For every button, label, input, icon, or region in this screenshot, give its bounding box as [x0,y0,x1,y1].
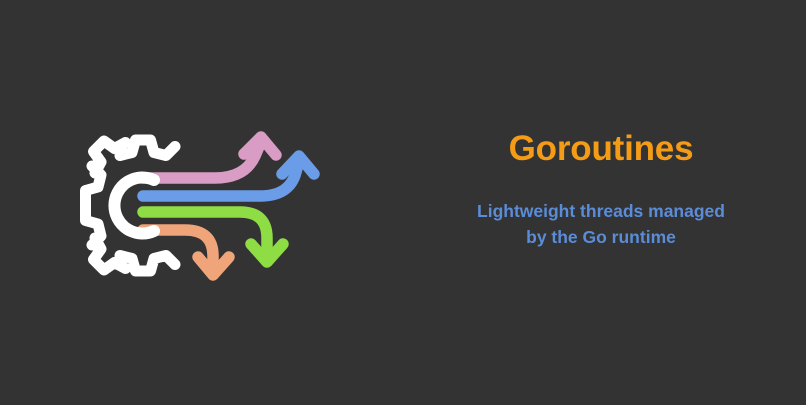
subtitle-line-2: by the Go runtime [406,224,796,250]
text-block: Goroutines Lightweight threads managed b… [406,128,796,250]
gear-icon [86,140,176,271]
page-title: Goroutines [406,128,796,170]
slide-canvas: Goroutines Lightweight threads managed b… [0,0,806,405]
page-subtitle: Lightweight threads managed by the Go ru… [406,198,796,250]
gear-with-concurrent-arrows-illustration [55,110,375,295]
subtitle-line-1: Lightweight threads managed [406,198,796,224]
